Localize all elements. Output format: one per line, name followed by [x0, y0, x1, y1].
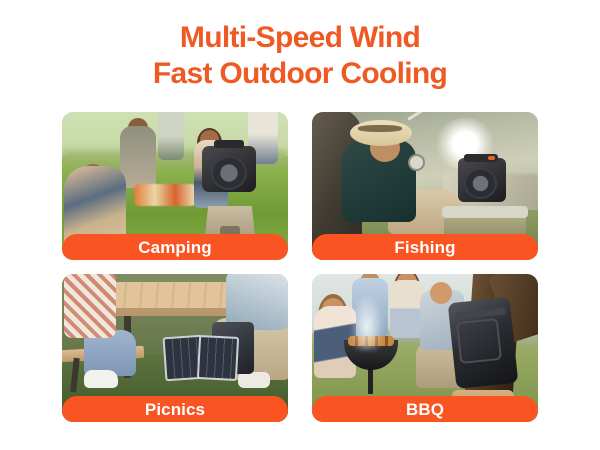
portable-fan-grill [211, 156, 247, 190]
page-title: Multi-Speed Wind Fast Outdoor Cooling [0, 20, 600, 92]
person-left-plaid-shirt [64, 274, 116, 338]
use-case-card-fishing[interactable]: Fishing [312, 112, 538, 260]
use-case-card-camping[interactable]: Camping [62, 112, 288, 260]
portable-fan-handle [214, 140, 244, 148]
guest-head-4 [430, 282, 452, 304]
standing-person-back [158, 112, 184, 160]
portable-fan-grill [456, 318, 502, 364]
guest-body-3 [390, 280, 424, 338]
straw-hat [350, 120, 412, 146]
portable-fan-grill [464, 168, 497, 199]
use-case-card-bbq[interactable]: BBQ [312, 274, 538, 422]
solar-panel-right [197, 335, 239, 381]
straw-hat-band [358, 125, 402, 132]
headline-line-2: Fast Outdoor Cooling [0, 56, 600, 92]
card-label-pill-camping[interactable]: Camping [62, 234, 288, 260]
fishing-reel [410, 156, 423, 169]
card-label-pill-fishing[interactable]: Fishing [312, 234, 538, 260]
card-label-text: Fishing [394, 239, 455, 259]
grill-leg [368, 368, 373, 394]
picnic-spread [134, 184, 196, 206]
promo-poster: Multi-Speed Wind Fast Outdoor Cooling [0, 0, 600, 450]
bbq-smoke [350, 292, 384, 350]
card-label-text: Picnics [145, 401, 205, 421]
card-label-pill-bbq[interactable]: BBQ [312, 396, 538, 422]
use-case-card-picnics[interactable]: Picnics [62, 274, 288, 422]
person-right-shoe [238, 372, 270, 388]
cooler-lid [442, 206, 528, 218]
card-label-pill-picnics[interactable]: Picnics [62, 396, 288, 422]
person-left-shoe [84, 370, 118, 388]
headline-line-1: Multi-Speed Wind [0, 20, 600, 56]
use-case-grid: Camping [62, 112, 538, 422]
portable-fan-indicator [488, 156, 495, 160]
card-label-text: BBQ [406, 401, 444, 421]
card-label-text: Camping [138, 239, 211, 259]
